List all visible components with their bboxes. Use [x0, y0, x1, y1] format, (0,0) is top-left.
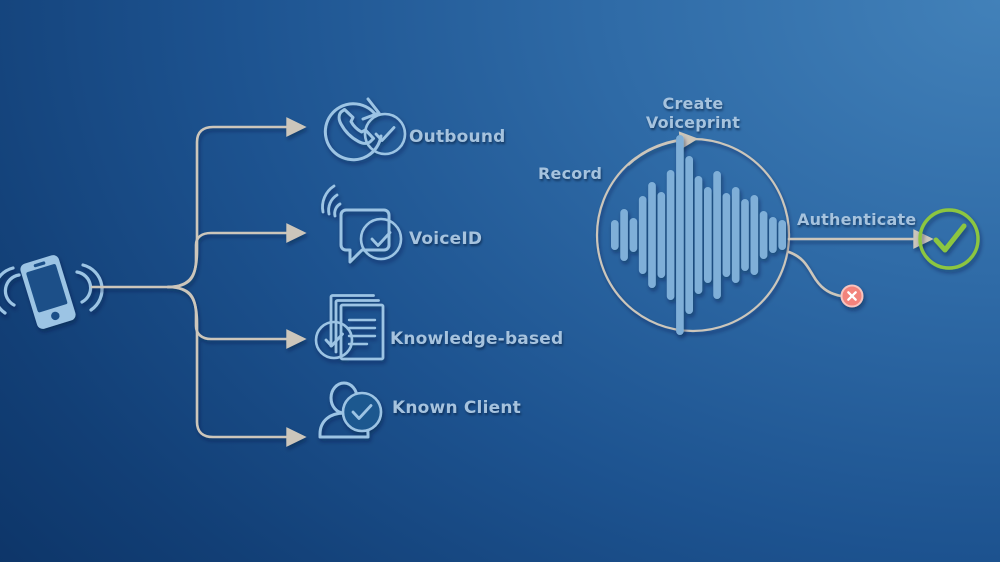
branch-connectors — [92, 127, 291, 437]
waveform-bar — [713, 171, 721, 299]
outbound-call-icon — [325, 99, 405, 160]
knowledge-based-documents-icon — [316, 296, 383, 360]
known-client-person-icon — [320, 383, 381, 437]
waveform-bar — [648, 182, 656, 288]
waveform-bar — [676, 135, 684, 335]
waveform-bar — [611, 220, 619, 250]
waveform-bar — [667, 170, 675, 300]
waveform-bar — [685, 156, 693, 314]
stage-label-record: Record — [538, 165, 602, 184]
diagram-canvas: Outbound VoiceID Knowledge-based Known C… — [0, 0, 1000, 562]
waveform-bar — [723, 193, 731, 277]
waveform-bar — [732, 187, 740, 283]
stage-label-authenticate: Authenticate — [797, 211, 916, 230]
waveform-bar — [639, 196, 647, 274]
diagram-graphics — [0, 0, 1000, 562]
voiceid-speech-bubble-icon — [323, 186, 401, 262]
waveform-bar — [704, 187, 712, 283]
waveform-bar — [751, 195, 759, 275]
green-check-circle-icon — [920, 210, 978, 268]
vibrating-mobile-phone-icon — [0, 254, 102, 331]
channel-label-knowledge-based: Knowledge-based — [390, 330, 563, 350]
stage-label-create-voiceprint: Create Voiceprint — [614, 95, 772, 132]
waveform-bar — [760, 211, 768, 259]
waveform-bar — [769, 217, 777, 253]
channel-label-voiceid: VoiceID — [409, 230, 482, 250]
stage-label-create-voiceprint-line2: Voiceprint — [614, 114, 772, 133]
waveform-bar — [658, 192, 666, 278]
channel-label-outbound: Outbound — [409, 128, 506, 148]
stage-label-create-voiceprint-line1: Create — [614, 95, 772, 114]
red-x-circle-icon — [842, 286, 863, 307]
waveform-bar — [695, 176, 703, 294]
waveform-bar — [778, 220, 786, 250]
waveform-bar — [741, 199, 749, 271]
channel-label-known-client: Known Client — [392, 399, 521, 419]
waveform-bar — [620, 209, 628, 261]
waveform-bar — [630, 218, 638, 252]
